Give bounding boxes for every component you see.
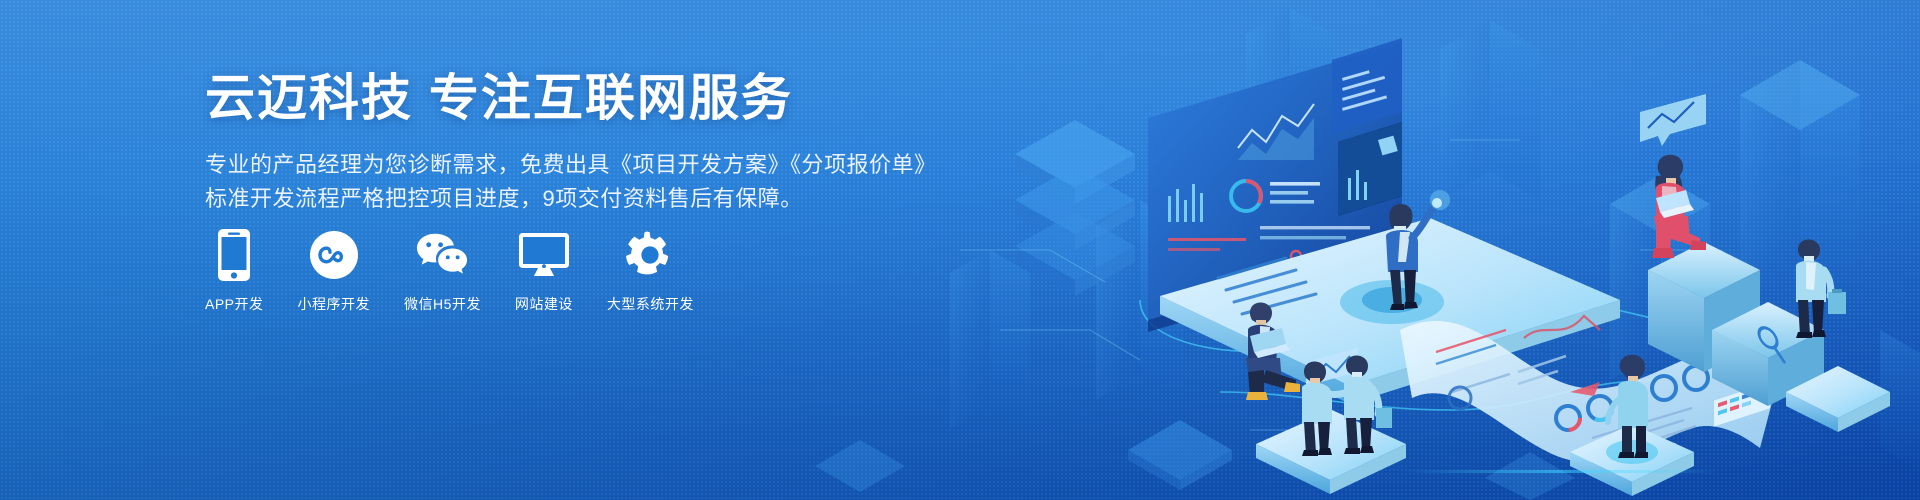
mini-program-icon <box>307 228 361 282</box>
banner-subtitle: 专业的产品经理为您诊断需求，免费出具《项目开发方案》《分项报价单》 标准开发流程… <box>205 148 925 216</box>
woman-on-pad <box>1608 355 1648 458</box>
dashboard-screen <box>1148 38 1402 332</box>
service-label: 小程序开发 <box>298 294 371 314</box>
man-with-briefcase <box>1796 240 1846 338</box>
mini-chart-card <box>1306 348 1358 386</box>
service-label: 大型系统开发 <box>607 294 694 314</box>
person-left-b <box>1344 356 1392 454</box>
monitor-icon <box>517 228 571 282</box>
page-title: 云迈科技 专注互联网服务 <box>205 68 925 128</box>
smartphone-icon <box>207 228 261 282</box>
person-left-a <box>1302 362 1364 456</box>
service-item-website[interactable]: 网站建设 <box>515 228 573 314</box>
service-item-mini-program[interactable]: 小程序开发 <box>298 228 371 314</box>
subtitle-line-1: 专业的产品经理为您诊断需求，免费出具《项目开发方案》《分项报价单》 <box>205 148 925 182</box>
woman-on-block-laptop <box>1652 155 1706 258</box>
promo-banner: 云迈科技 专注互联网服务 专业的产品经理为您诊断需求，免费出具《项目开发方案》《… <box>0 0 1920 500</box>
sitting-person-laptop <box>1246 303 1300 400</box>
service-label: APP开发 <box>205 294 264 314</box>
service-item-large-system[interactable]: 大型系统开发 <box>607 228 694 314</box>
subtitle-line-2: 标准开发流程严格把控项目进度，9项交付资料售后有保障。 <box>205 182 925 216</box>
stair-blocks <box>1648 242 1890 432</box>
wechat-icon <box>415 228 469 282</box>
chat-chart-bubble <box>1640 94 1706 146</box>
service-label: 网站建设 <box>515 294 573 314</box>
pad-woman <box>1570 424 1694 496</box>
hero-illustration <box>1100 0 1920 500</box>
tablet-platform <box>1160 218 1620 404</box>
pad-two-people <box>1256 410 1406 494</box>
service-item-app[interactable]: APP开发 <box>205 228 264 314</box>
banner-copy: 云迈科技 专注互联网服务 专业的产品经理为您诊断需求，免费出具《项目开发方案》《… <box>205 68 925 216</box>
flowing-data-sheet <box>1400 316 1780 478</box>
service-label: 微信H5开发 <box>404 294 481 314</box>
standing-person-pointing <box>1386 190 1450 310</box>
service-item-wechat-h5[interactable]: 微信H5开发 <box>404 228 481 314</box>
service-list: APP开发 小程序开发 <box>205 228 694 314</box>
gear-icon <box>623 228 677 282</box>
